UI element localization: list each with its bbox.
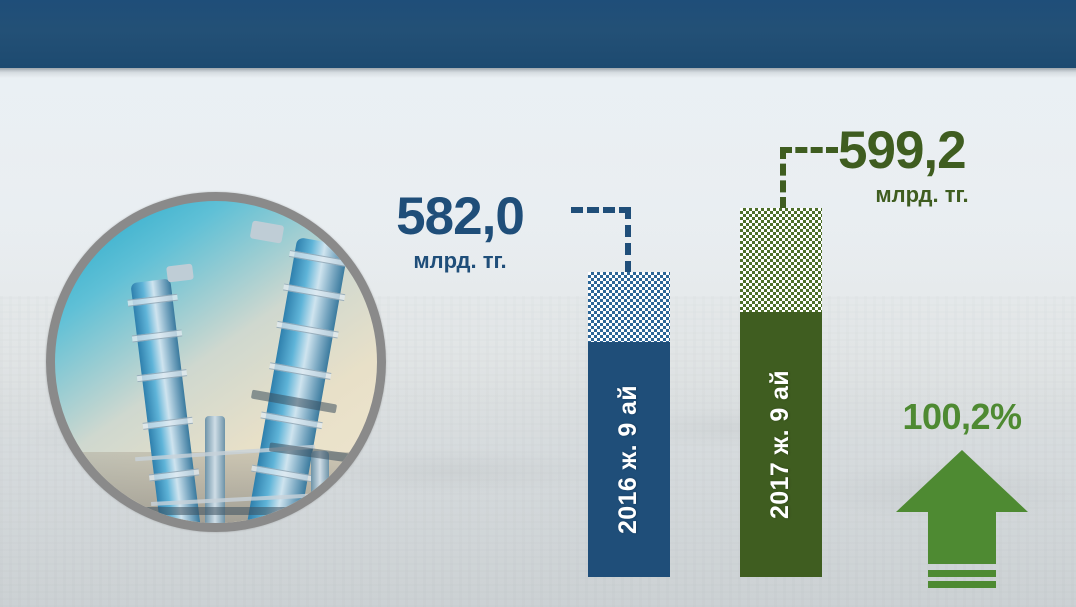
header-shadow xyxy=(0,68,1076,78)
slide-header xyxy=(0,0,1076,68)
bar-label-2017: 2017 ж. 9 ай xyxy=(767,370,796,519)
bar-2016[interactable]: 2016 ж. 9 ай xyxy=(588,272,670,577)
value-callout-2016: 582,0 млрд. тг. xyxy=(370,190,550,274)
value-2016: 582,0 xyxy=(370,190,550,243)
bar-label-2016: 2016 ж. 9 ай xyxy=(615,385,644,534)
bar-2017[interactable]: 2017 ж. 9 ай xyxy=(740,208,822,577)
connector-2017-vertical xyxy=(780,147,786,209)
unit-2017: млрд. тг. xyxy=(838,182,1038,208)
connector-2016-vertical xyxy=(625,207,631,273)
bar-2017-label-wrap: 2017 ж. 9 ай xyxy=(740,312,822,577)
growth-percent: 100,2% xyxy=(872,396,1052,438)
slide: ӨНЕРКӘСІП Слайд №1 xyxy=(0,0,1076,607)
bar-2017-pattern-segment xyxy=(740,208,822,312)
tower-right-cap xyxy=(250,220,285,243)
up-arrow-icon xyxy=(892,446,1032,596)
value-2017: 599,2 xyxy=(838,124,1038,177)
connector-2016-horizontal xyxy=(571,207,631,213)
refinery-small-column-2-icon xyxy=(311,451,329,532)
tower-left-cap xyxy=(166,263,194,282)
growth-indicator: 100,2% xyxy=(872,396,1052,596)
connector-2017-horizontal xyxy=(780,147,838,153)
bar-2016-pattern-segment xyxy=(588,272,670,342)
unit-2016: млрд. тг. xyxy=(370,248,550,274)
refinery-photo-circle xyxy=(46,192,386,532)
bar-2016-label-wrap: 2016 ж. 9 ай xyxy=(588,342,670,577)
value-callout-2017: 599,2 млрд. тг. xyxy=(838,124,1038,208)
refinery-base-structure xyxy=(115,507,335,515)
refinery-photo-inner xyxy=(55,201,377,523)
